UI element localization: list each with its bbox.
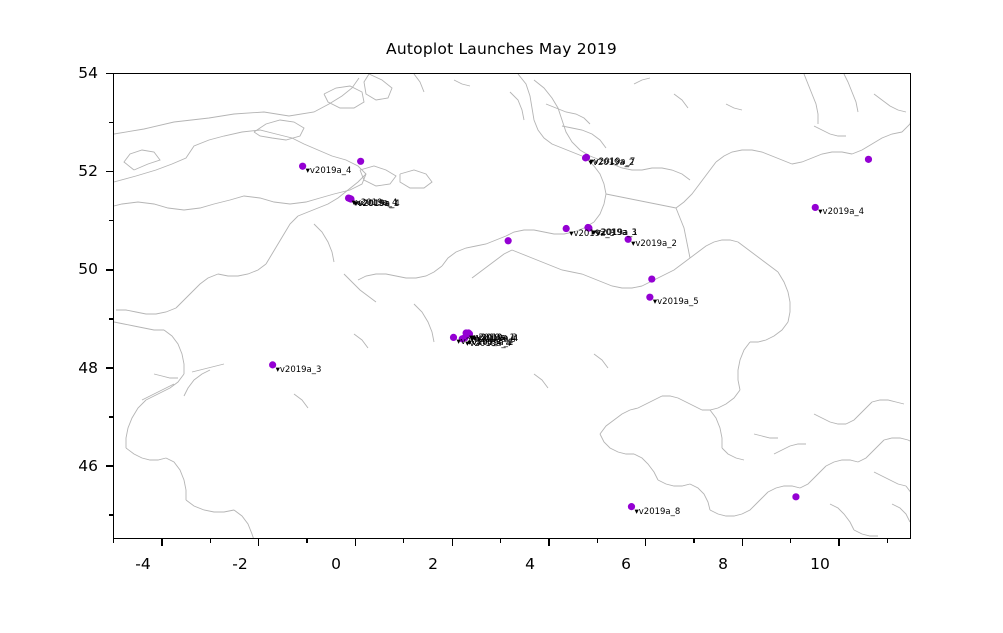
tick-mark <box>500 539 501 543</box>
tick-mark <box>109 220 113 221</box>
scatter-point-label: ▾v2019a_2 <box>631 240 677 249</box>
xtick-label-6: 6 <box>596 555 656 573</box>
scatter-point-label: ▾v2019a_1 <box>592 229 638 238</box>
ytick-label-46: 46 <box>38 457 98 475</box>
tick-mark <box>161 539 162 546</box>
scatter-point[interactable] <box>357 158 364 165</box>
xtick-label--2: -2 <box>210 555 270 573</box>
tick-mark <box>109 122 113 123</box>
tick-mark <box>106 171 113 172</box>
tick-mark <box>693 539 694 543</box>
tick-mark <box>645 539 646 546</box>
tick-mark <box>109 318 113 319</box>
tick-mark <box>355 539 356 546</box>
matplotlib-figure: Autoplot Launches May 2019 <box>0 0 1003 633</box>
xtick-label-2: 2 <box>403 555 463 573</box>
tick-mark <box>790 539 791 543</box>
tick-mark <box>887 539 888 543</box>
scatter-point[interactable] <box>792 493 799 500</box>
scatter-point-label: ▾v2019a_4 <box>354 200 400 209</box>
page-title: Autoplot Launches May 2019 <box>0 40 1003 58</box>
tick-mark <box>258 539 259 546</box>
xtick-label-0: 0 <box>306 555 366 573</box>
scatter-point-label: ▾v2019a_4 <box>818 208 864 217</box>
tick-mark <box>210 539 211 543</box>
xtick-label--4: -4 <box>113 555 173 573</box>
tick-mark <box>548 539 549 546</box>
tick-mark <box>113 539 114 543</box>
xtick-label-4: 4 <box>500 555 560 573</box>
scatter-point-label: ▾v2019a_4 <box>465 340 511 349</box>
tick-mark <box>597 539 598 543</box>
scatter-point[interactable] <box>648 275 655 282</box>
tick-mark <box>742 539 743 546</box>
tick-mark <box>452 539 453 546</box>
tick-mark <box>109 416 113 417</box>
scatter-point[interactable] <box>865 156 872 163</box>
ytick-label-54: 54 <box>38 64 98 82</box>
xtick-label-8: 8 <box>693 555 753 573</box>
scatter-point-label: ▾v2019a_3 <box>276 366 322 375</box>
xtick-label-10: 10 <box>790 555 850 573</box>
ytick-label-48: 48 <box>38 359 98 377</box>
tick-mark <box>109 514 113 515</box>
tick-mark <box>106 367 113 368</box>
scatter-point-label: ▾v2019a_2 <box>589 159 635 168</box>
tick-mark <box>403 539 404 543</box>
scatter-points-layer[interactable] <box>114 74 911 539</box>
scatter-point-label: ▾v2019a_4 <box>306 167 352 176</box>
tick-mark <box>838 539 839 546</box>
scatter-point-label: ▾v2019a_5 <box>653 298 699 307</box>
plot-area[interactable]: ▾v2019a_4▾v2019a_4▾v2019a_1▾v2019a_4▾v20… <box>113 73 911 539</box>
ytick-label-52: 52 <box>38 162 98 180</box>
scatter-point-label: ▾v2019a_8 <box>634 508 680 517</box>
tick-mark <box>306 539 307 543</box>
scatter-point[interactable] <box>505 237 512 244</box>
ytick-label-50: 50 <box>38 260 98 278</box>
tick-mark <box>106 73 113 74</box>
tick-mark <box>106 465 113 466</box>
tick-mark <box>106 269 113 270</box>
